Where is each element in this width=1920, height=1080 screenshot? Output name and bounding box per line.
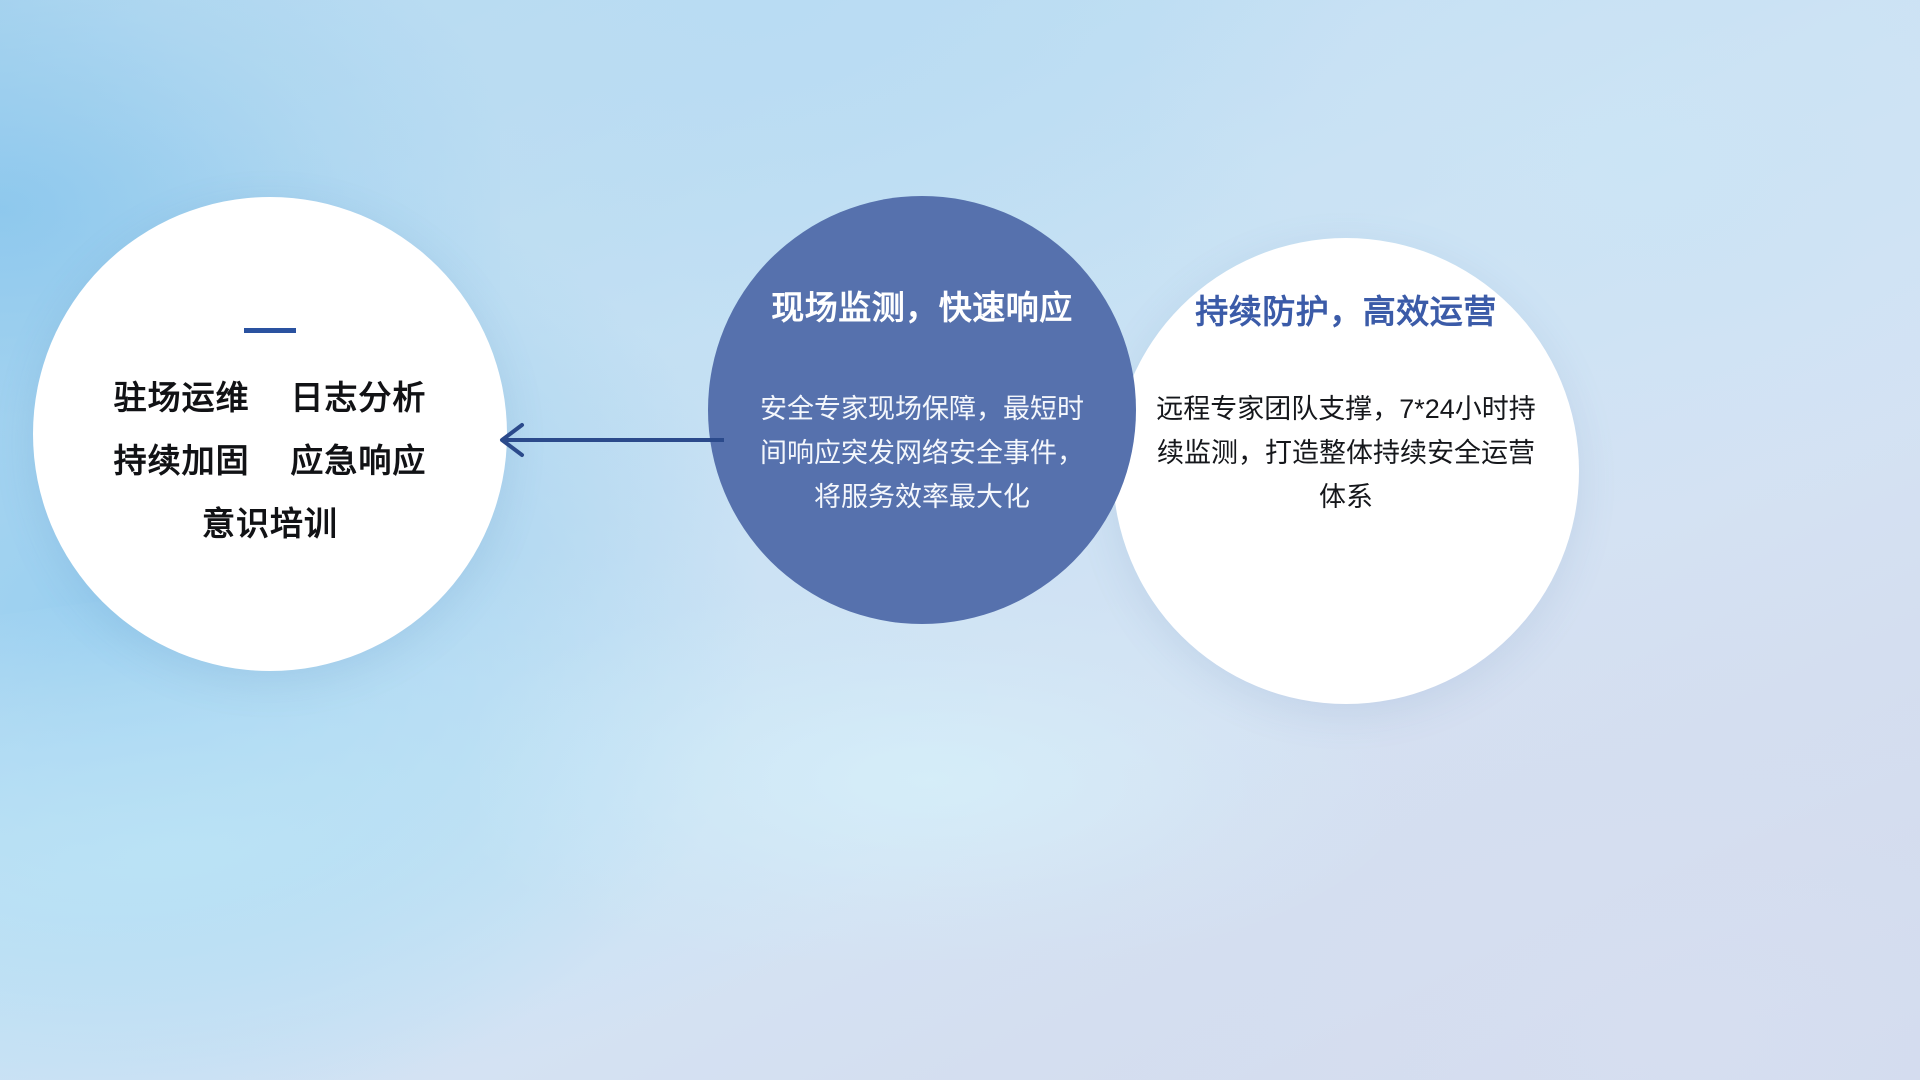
left-keyword-row-3: 意识培训 — [202, 507, 338, 540]
slide-canvas: 驻场运维 日志分析 持续加固 应急响应 意识培训 持续防护，高效运营 远程专家团… — [0, 0, 1920, 1080]
left-circle-card: 驻场运维 日志分析 持续加固 应急响应 意识培训 — [33, 197, 507, 671]
right-circle-card: 持续防护，高效运营 远程专家团队支撑，7*24小时持续监测，打造整体持续安全运营… — [1113, 238, 1579, 704]
left-keyword-row-2: 持续加固 应急响应 — [114, 444, 427, 477]
middle-card-title: 现场监测，快速响应 — [771, 290, 1073, 326]
divider-rule — [244, 328, 296, 333]
right-card-body: 远程专家团队支撑，7*24小时持续监测，打造整体持续安全运营体系 — [1151, 388, 1541, 519]
middle-card-body: 安全专家现场保障，最短时间响应突发网络安全事件，将服务效率最大化 — [752, 388, 1092, 519]
arrow-left-icon — [486, 418, 726, 462]
middle-circle-card: 现场监测，快速响应 安全专家现场保障，最短时间响应突发网络安全事件，将服务效率最… — [708, 196, 1136, 624]
left-keyword-row-1: 驻场运维 日志分析 — [114, 381, 427, 414]
right-card-title: 持续防护，高效运营 — [1195, 294, 1497, 330]
